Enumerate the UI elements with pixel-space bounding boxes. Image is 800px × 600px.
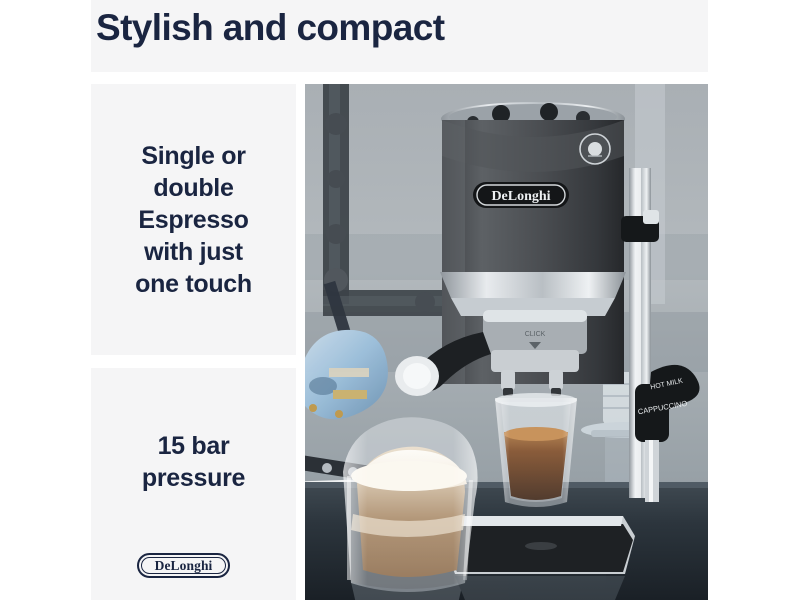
feature-panel-pressure-text: 15 bar pressure [128, 430, 259, 494]
machine-dial [580, 134, 610, 164]
svg-text:DeLonghi: DeLonghi [491, 189, 550, 204]
feature-line: Espresso [138, 206, 248, 234]
page-title: Stylish and compact [96, 2, 696, 54]
product-photo: DeLonghi CLICK [305, 84, 708, 600]
delonghi-logo-text: DeLonghi [155, 559, 213, 573]
feature-panel-espresso-text: Single or double Espresso with just one … [121, 140, 266, 300]
feature-line: double [153, 174, 233, 202]
feature-line: with just [144, 238, 243, 266]
feature-panel-espresso: Single or double Espresso with just one … [91, 84, 296, 355]
svg-text:CLICK: CLICK [525, 331, 546, 338]
feature-line: pressure [142, 464, 245, 492]
espresso-cup [495, 393, 577, 507]
machine-brand-badge: DeLonghi [473, 182, 569, 208]
product-photo-illustration: DeLonghi CLICK [305, 84, 708, 600]
feature-line: 15 bar [158, 432, 230, 460]
spout-left [501, 370, 515, 390]
feature-line: Single or [141, 142, 245, 170]
feature-line: one touch [135, 270, 252, 298]
spout-right [549, 370, 563, 390]
cappuccino-glass [343, 417, 478, 592]
delonghi-logo: DeLonghi [137, 553, 230, 578]
delonghi-logo-ring: DeLonghi [141, 557, 226, 574]
product-feature-page: Stylish and compact Single or double Esp… [0, 0, 800, 600]
